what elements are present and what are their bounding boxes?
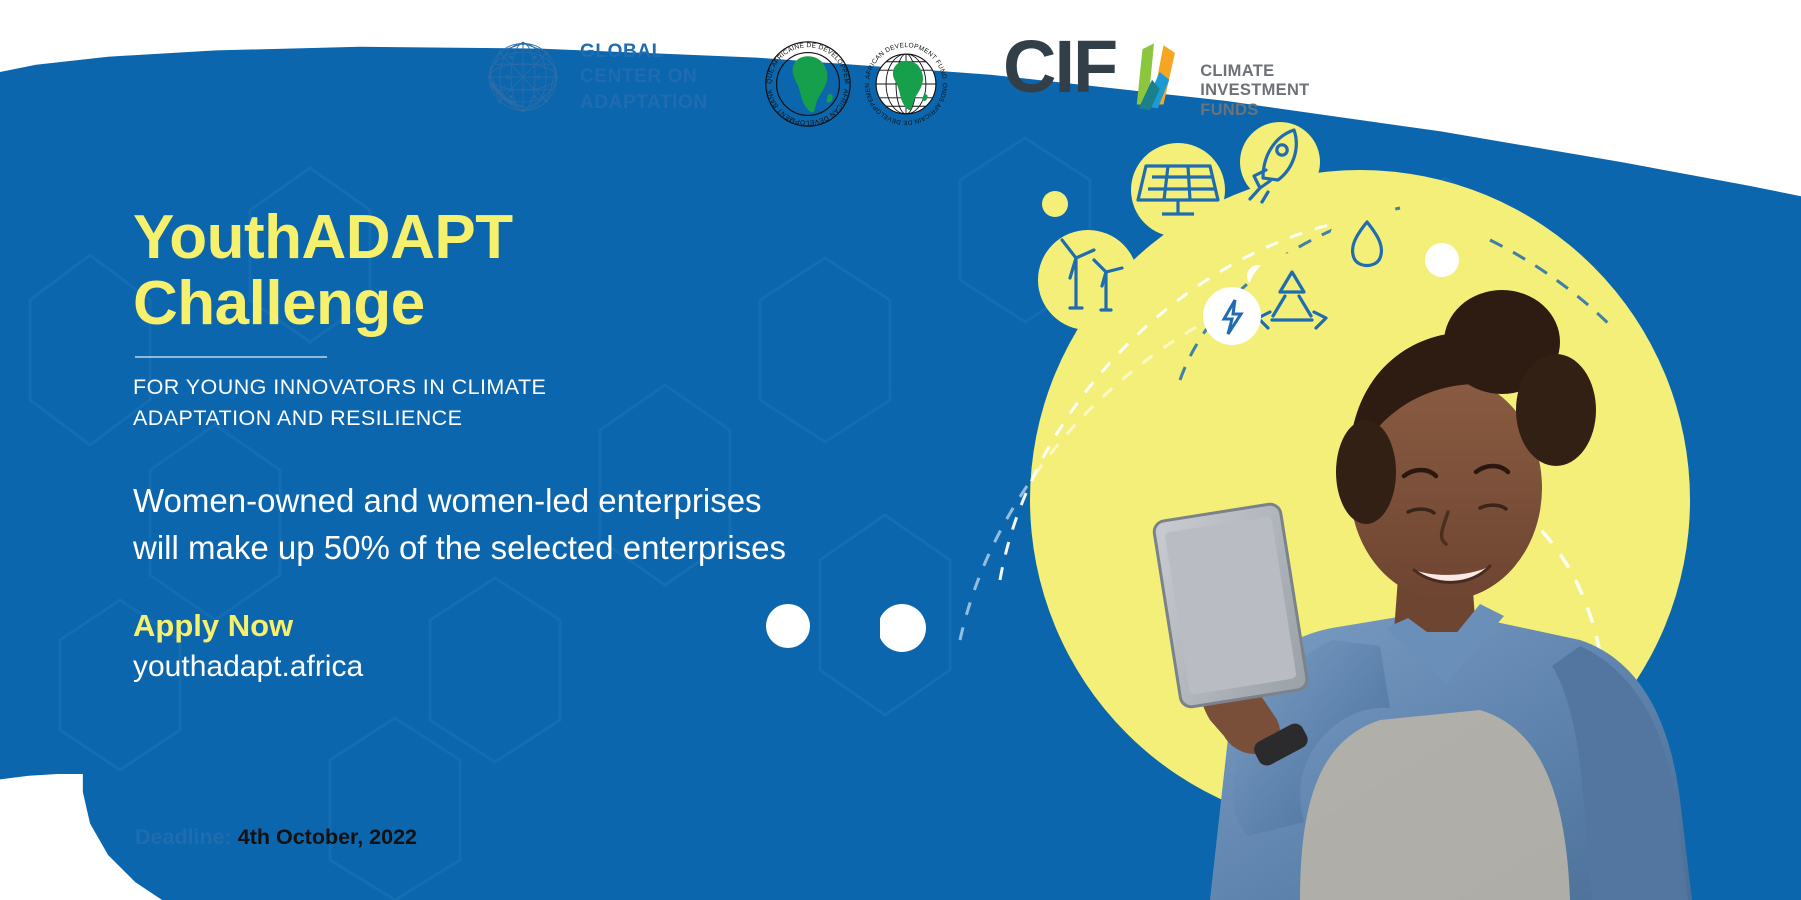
wind-turbine-badge [1038,230,1138,330]
cif-subtitle: CLIMATE INVESTMENT FUNDS [1200,62,1309,120]
color-fan-icon [1110,30,1196,116]
decor-dot-yellow [1042,191,1068,217]
body-line-2: will make up 50% of the selected enterpr… [133,525,786,572]
banner-canvas: GLOBAL CENTER ON ADAPTATION BANQUE AFRIC… [0,0,1801,900]
logo-climate-investment-funds: CIF CLIMATE INVESTMENT FUNDS [1003,32,1310,120]
right-illustration [880,80,1801,900]
page-title: YouthADAPT Challenge [133,205,513,336]
cif-sub-line-2: INVESTMENT [1200,81,1309,100]
website-url-link[interactable]: youthadapt.africa [133,650,363,684]
deadline-label: Deadline: [135,825,232,849]
divider [135,356,327,358]
headline-line-1: YouthADAPT [133,205,513,271]
cif-wordmark: CIF [1003,32,1116,102]
banner-copy: YouthADAPT Challenge FOR YOUNG INNOVATOR… [133,0,933,900]
deadline-value: 4th October, 2022 [238,825,417,849]
banner-body-text: Women-owned and women-led enterprises wi… [133,478,786,572]
subhead-line-2: ADAPTATION AND RESILIENCE [133,403,546,434]
headline-line-2: Challenge [133,271,513,337]
lightning-bolt-badge [1203,287,1261,345]
subhead-line-1: FOR YOUNG INNOVATORS IN CLIMATE [133,372,546,403]
recycle-badge [1247,253,1337,343]
cif-sub-line-1: CLIMATE [1200,62,1309,81]
cif-sub-line-3: FUNDS [1200,101,1309,120]
water-drop-badge [1329,205,1405,281]
banner-subtitle: FOR YOUNG INNOVATORS IN CLIMATE ADAPTATI… [133,372,546,433]
apply-now-label[interactable]: Apply Now [133,608,293,644]
decor-dot-white-2 [1425,243,1459,277]
solar-panel-badge [1131,143,1225,237]
deadline-text: Deadline: 4th October, 2022 [135,825,417,850]
body-line-1: Women-owned and women-led enterprises [133,478,786,525]
